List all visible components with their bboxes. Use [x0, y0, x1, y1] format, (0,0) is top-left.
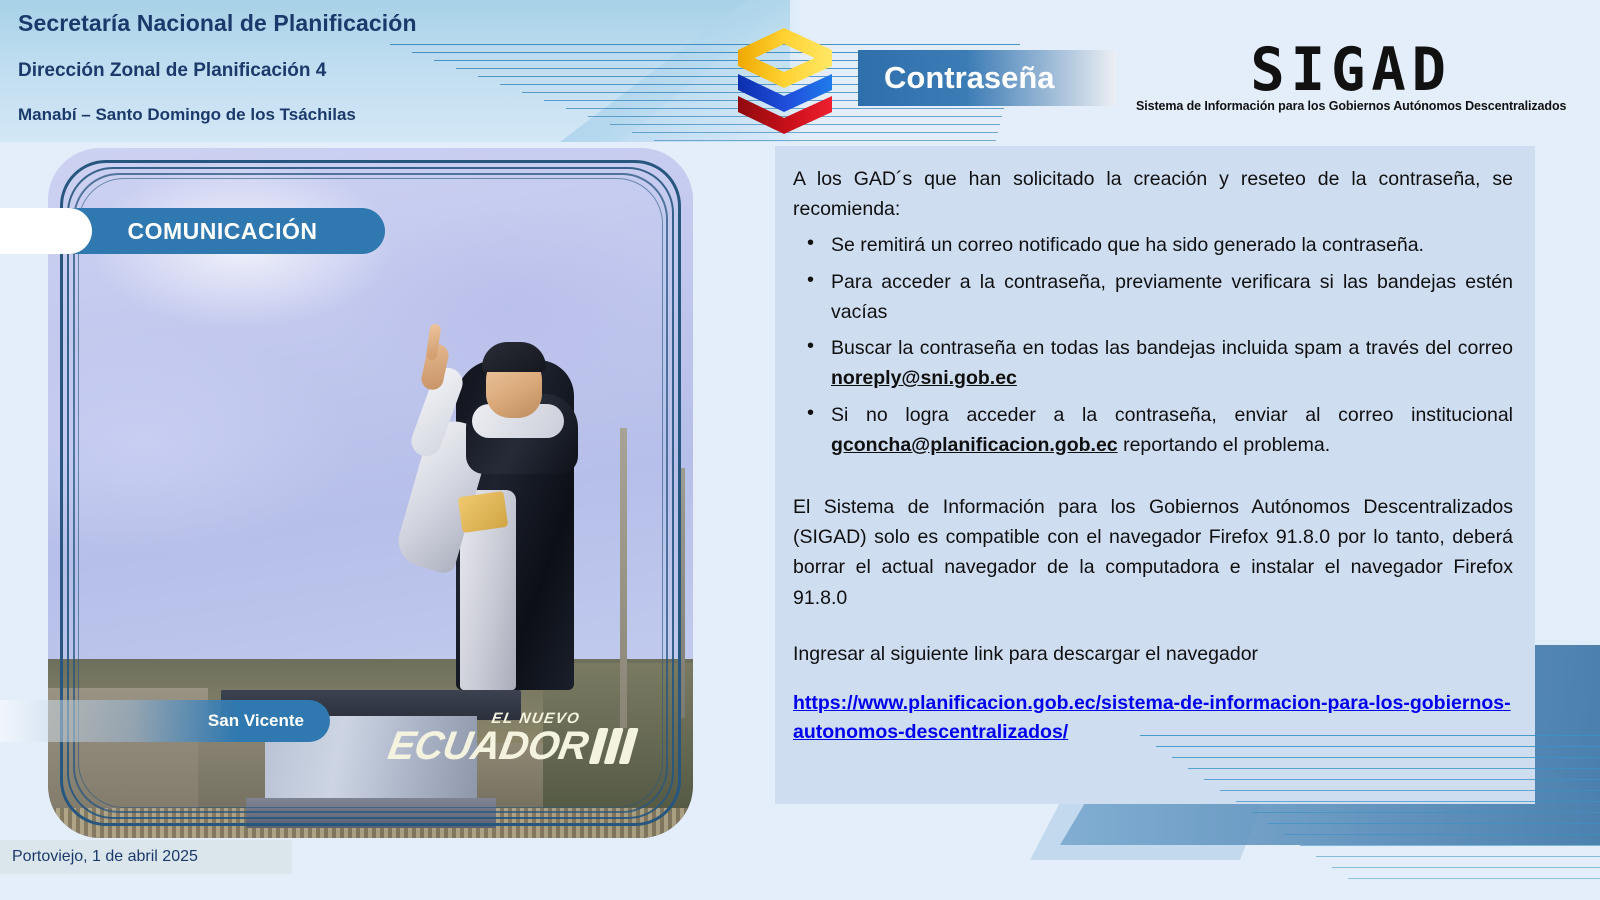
footer-date-label: Portoviejo, 1 de abril 2025	[12, 848, 198, 866]
statue-book	[458, 491, 509, 533]
statue-hair	[482, 342, 546, 372]
list-item: Si no logra acceder a la contraseña, env…	[793, 400, 1513, 460]
bullet4-text: Si no logra acceder a la contraseña, env…	[831, 404, 1513, 426]
header-band: Secretaría Nacional de Planificación Dir…	[0, 0, 790, 142]
gconcha-email-link[interactable]: gconcha@planificacion.gob.ec	[831, 434, 1118, 456]
footer-date: Portoviejo, 1 de abril 2025	[0, 840, 292, 874]
download-intro: Ingresar al siguiente link para descarga…	[793, 639, 1513, 669]
photo-caption: San Vicente	[0, 700, 330, 742]
brand-row: Contraseña SIGAD Sistema de Información …	[728, 22, 1566, 134]
el-nuevo-ecuador-mark: EL NUEVO ECUADOR	[385, 711, 639, 766]
ecuador-label: ECUADOR	[385, 726, 591, 766]
ecuador-bars-icon	[591, 728, 637, 764]
zone-title: Dirección Zonal de Planificación 4	[18, 50, 326, 92]
firefox-requirement-paragraph: El Sistema de Información para los Gobie…	[793, 492, 1513, 613]
content-panel: A los GAD´s que han solicitado la creaci…	[775, 146, 1535, 804]
list-item: Se remitirá un correo notificado que ha …	[793, 230, 1513, 260]
photo-caption-label: San Vicente	[208, 711, 304, 731]
comunicacion-badge-label: COMUNICACIÓN	[68, 218, 318, 245]
bullet3-text: Buscar la contraseña en todas las bandej…	[831, 337, 1513, 359]
sigad-wordmark: SIGAD	[1250, 42, 1452, 99]
photo-statue	[408, 290, 628, 690]
slide-canvas: Secretaría Nacional de Planificación Dir…	[0, 0, 1600, 900]
comunicacion-badge-notch	[0, 208, 92, 254]
list-item: Para acceder a la contraseña, previament…	[793, 267, 1513, 327]
bullet4-text-end: reportando el problema.	[1118, 434, 1330, 456]
download-url-link[interactable]: https://www.planificacion.gob.ec/sistema…	[793, 689, 1513, 748]
contrasena-title-text: Contraseña	[884, 60, 1055, 96]
provinces-label: Manabí – Santo Domingo de los Tsáchilas	[18, 94, 356, 136]
noreply-email-link[interactable]: noreply@sni.gob.ec	[831, 367, 1017, 389]
ecuador-government-logo-icon	[728, 22, 846, 134]
photo-pedestal-base	[246, 798, 496, 828]
recommendations-list: Se remitirá un correo notificado que ha …	[793, 230, 1513, 460]
list-item: Buscar la contraseña en todas las bandej…	[793, 333, 1513, 393]
intro-paragraph: A los GAD´s que han solicitado la creaci…	[793, 164, 1513, 224]
contrasena-title-banner: Contraseña	[858, 50, 1116, 106]
photo-utility-pole	[679, 468, 685, 718]
organization-title: Secretaría Nacional de Planificación	[18, 2, 417, 44]
sigad-logo: SIGAD Sistema de Información para los Go…	[1136, 43, 1566, 113]
